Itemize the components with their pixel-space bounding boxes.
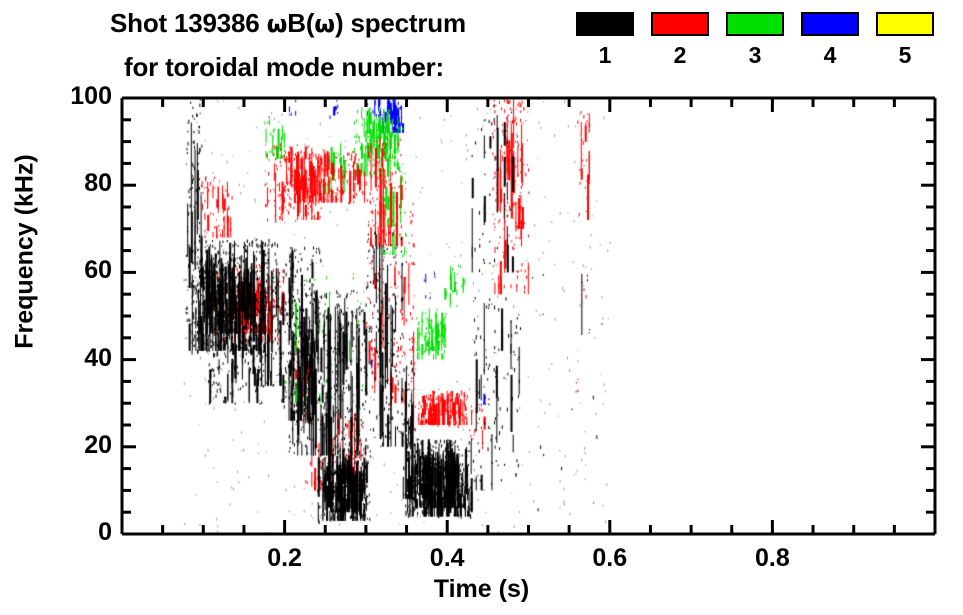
legend-label-2: 2 — [651, 44, 709, 67]
y-tick-label-20: 20 — [26, 431, 112, 460]
x-tick-label-0.2: 0.2 — [255, 544, 315, 573]
legend-item-3: 3 — [726, 12, 784, 67]
legend-swatch-2 — [651, 12, 709, 36]
x-tick-label-0.4: 0.4 — [417, 544, 477, 573]
legend-label-3: 3 — [726, 44, 784, 67]
figure-title-line-1: Shot 139386 ωB(ω) spectrum — [110, 8, 466, 39]
legend-item-2: 2 — [651, 12, 709, 67]
legend-swatch-5 — [876, 12, 934, 36]
y-tick-label-100: 100 — [26, 82, 112, 111]
x-tick-label-0.6: 0.6 — [580, 544, 640, 573]
legend-swatch-4 — [801, 12, 859, 36]
y-tick-label-0: 0 — [26, 518, 112, 547]
spectrogram-figure: Shot 139386 ωB(ω) spectrum for toroidal … — [0, 0, 963, 615]
omega-symbol-2: ω — [314, 10, 335, 38]
x-tick-label-0.8: 0.8 — [742, 544, 802, 573]
figure-title-line-2: for toroidal mode number: — [124, 52, 444, 83]
legend-label-1: 1 — [576, 44, 634, 67]
title-spectrum-text: ) spectrum — [335, 8, 466, 38]
legend-label-5: 5 — [876, 44, 934, 67]
title-shot-text: Shot 139386 — [110, 8, 267, 38]
y-tick-label-40: 40 — [26, 344, 112, 373]
legend-item-1: 1 — [576, 12, 634, 67]
omega-symbol-1: ω — [267, 10, 288, 38]
legend-swatch-3 — [726, 12, 784, 36]
legend-item-5: 5 — [876, 12, 934, 67]
legend: 12345 — [576, 12, 926, 90]
plot-area — [122, 98, 935, 534]
y-tick-label-60: 60 — [26, 256, 112, 285]
title-b-open: B( — [287, 8, 314, 38]
legend-item-4: 4 — [801, 12, 859, 67]
legend-swatch-1 — [576, 12, 634, 36]
y-tick-label-80: 80 — [26, 169, 112, 198]
legend-label-4: 4 — [801, 44, 859, 67]
x-axis-title: Time (s) — [0, 575, 963, 604]
spectrogram-canvas — [122, 98, 935, 534]
